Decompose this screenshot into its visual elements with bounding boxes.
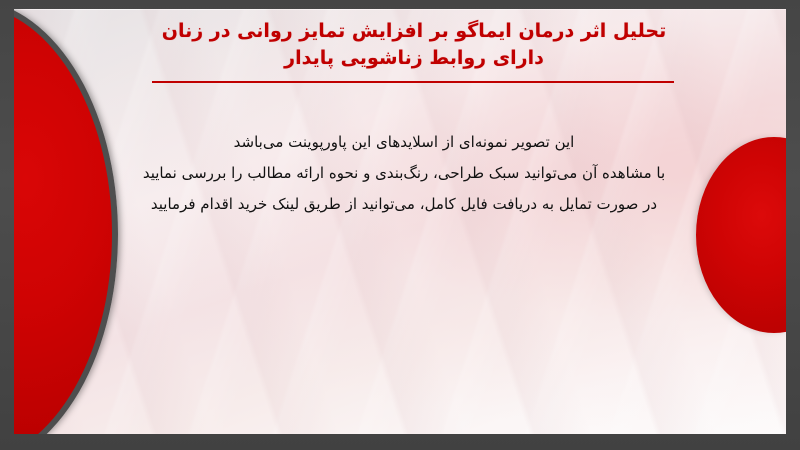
- slide-content-panel: تحلیل اثر درمان ایماگو بر افزایش تمایز ر…: [14, 9, 786, 434]
- body-text-line-3: در صورت تمایل به دریافت فایل کامل، می‌تو…: [130, 189, 678, 220]
- slide-title: تحلیل اثر درمان ایماگو بر افزایش تمایز ر…: [14, 18, 786, 72]
- background-diagonal-streaks: [14, 9, 786, 434]
- slide-body-text: این تصویر نمونه‌ای از اسلایدهای این پاور…: [14, 127, 786, 219]
- background-wash: [14, 9, 786, 434]
- slide-title-line-2: دارای روابط زناشویی پایدار: [138, 45, 690, 72]
- presentation-slide: تحلیل اثر درمان ایماگو بر افزایش تمایز ر…: [0, 0, 800, 450]
- left-red-ellipse-decoration: [14, 9, 118, 434]
- background-diagonal-streaks-secondary: [14, 9, 786, 434]
- slide-title-line-1: تحلیل اثر درمان ایماگو بر افزایش تمایز ر…: [138, 18, 690, 45]
- body-text-line-2: با مشاهده آن می‌توانید سبک طراحی، رنگ‌بن…: [130, 158, 678, 189]
- body-text-line-1: این تصویر نمونه‌ای از اسلایدهای این پاور…: [130, 127, 678, 158]
- title-underline-rule: [152, 81, 674, 83]
